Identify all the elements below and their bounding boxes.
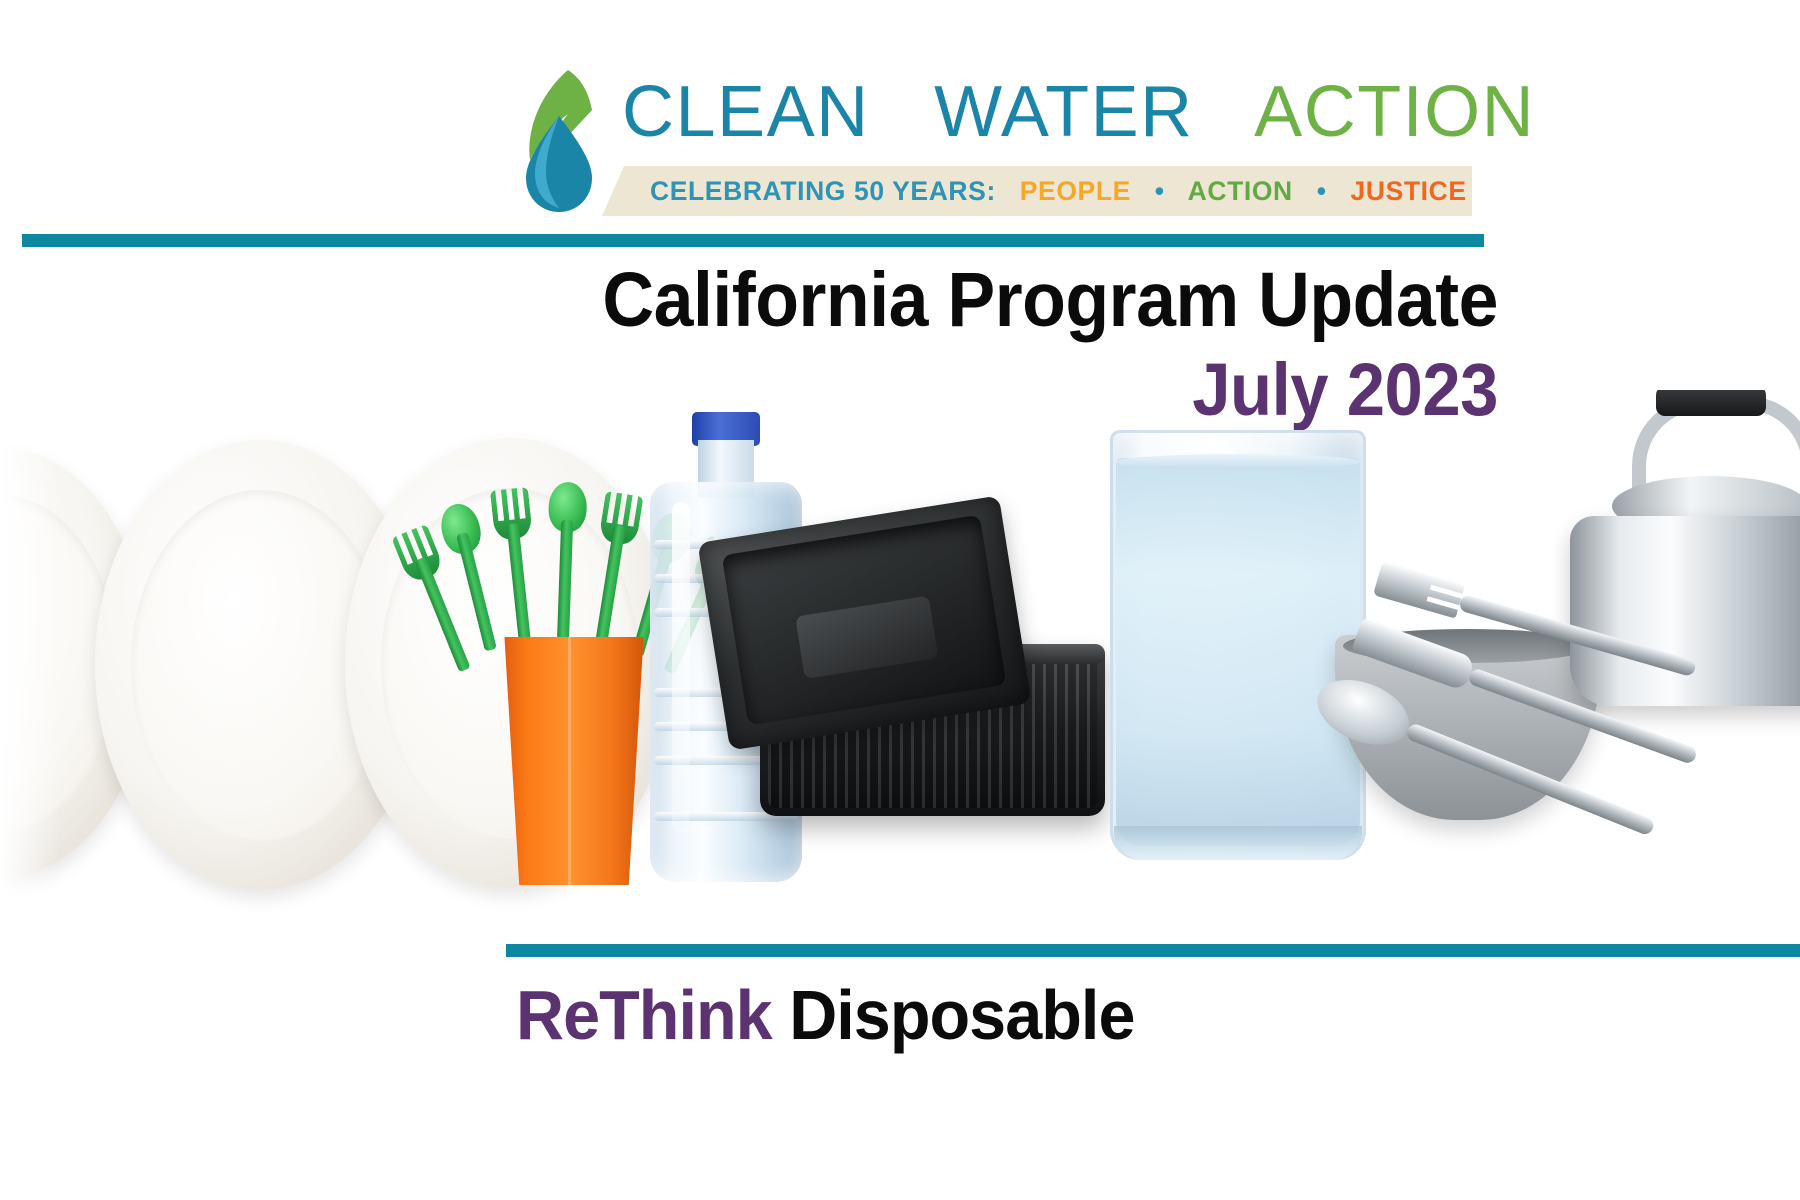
logo-word-clean: CLEAN [622,72,870,152]
program-name: ReThink Disposable [516,980,1134,1050]
divider-top [22,234,1484,247]
program-name-rethink: ReThink [516,976,772,1054]
stainless-silverware [1400,540,1800,870]
foodware-photo-strip [0,390,1800,956]
tagline-text: CELEBRATING 50 YEARS: PEOPLE • ACTION • … [650,176,1467,207]
orange-plastic-cup [500,637,648,885]
clean-water-action-logo[interactable]: CLEAN WATER ACTION CELEBRATING 50 YEARS:… [510,62,1500,212]
program-name-disposable: Disposable [772,976,1135,1054]
tagline-separator-2: • [1317,176,1327,206]
logo-word-action: ACTION [1254,72,1535,152]
tagline-people: PEOPLE [1020,176,1131,206]
tagline-justice: JUSTICE [1351,176,1467,206]
anniversary-tagline-banner: CELEBRATING 50 YEARS: PEOPLE • ACTION • … [602,166,1472,216]
tagline-lead: CELEBRATING 50 YEARS: [650,176,996,206]
program-name-block: ReThink Disposable [516,980,1167,1050]
kettle-grip [1656,390,1766,416]
tagline-separator-1: • [1155,176,1165,206]
page-title: California Program Update [105,262,1498,339]
tagline-action: ACTION [1188,176,1293,206]
divider-bottom [506,944,1800,957]
drinking-glass-of-water [1110,430,1366,860]
poster-canvas: CLEAN WATER ACTION CELEBRATING 50 YEARS:… [0,0,1800,1200]
leaf-and-waterdrop-icon [510,68,606,214]
logo-word-water: WATER [934,72,1193,152]
logo-wordmark: CLEAN WATER ACTION [622,76,1535,148]
